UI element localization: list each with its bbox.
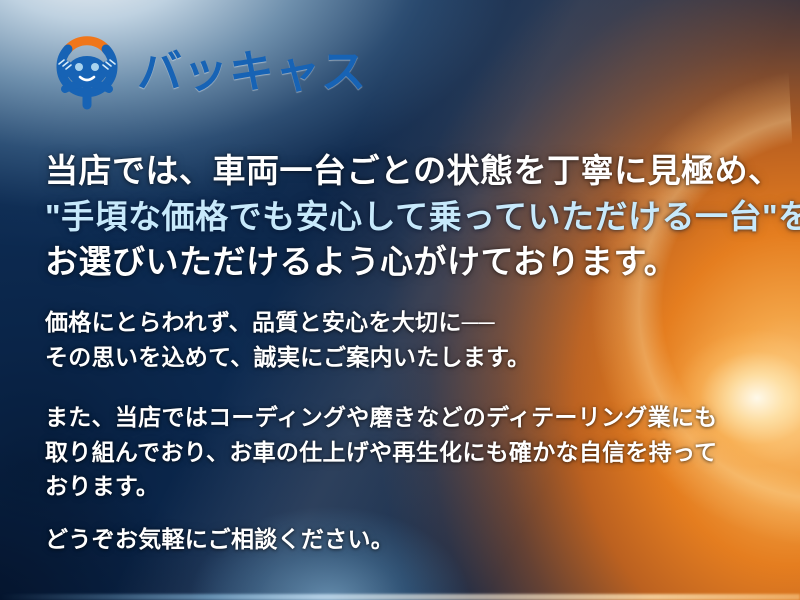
paragraph-detailing: また、当店ではコーディングや磨きなどのディテーリング業にも 取り組んでおり、お車…: [45, 400, 775, 504]
headline-line-2: "手頃な価格でも安心して乗っていただける一台"を: [45, 194, 775, 240]
headline-block: 当店では、車両一台ごとの状態を丁寧に見極め、 "手頃な価格でも安心して乗っていた…: [45, 148, 775, 285]
background-bottom-edge-line: [0, 594, 800, 600]
paragraph-closing-line-1: どうぞお気軽にご相談ください。: [45, 522, 775, 557]
paragraph-quality-line-1: 価格にとらわれず、品質と安心を大切に──: [45, 305, 775, 340]
paragraph-quality: 価格にとらわれず、品質と安心を大切に── その思いを込めて、誠実にご案内いたしま…: [45, 305, 775, 374]
paragraph-detailing-line-3: おります。: [45, 469, 775, 504]
headline-line-1: 当店では、車両一台ごとの状態を丁寧に見極め、: [45, 148, 775, 194]
paragraph-closing: どうぞお気軽にご相談ください。: [45, 522, 775, 557]
brand-logo: バッキャス: [45, 31, 367, 111]
promo-banner: バッキャス 当店では、車両一台ごとの状態を丁寧に見極め、 "手頃な価格でも安心し…: [0, 0, 800, 600]
brand-wordmark: バッキャス: [137, 49, 367, 94]
steering-wheel-mascot-icon: [45, 31, 129, 111]
paragraph-detailing-line-2: 取り組んでおり、お車の仕上げや再生化にも確かな自信を持って: [45, 435, 775, 470]
paragraph-detailing-line-1: また、当店ではコーディングや磨きなどのディテーリング業にも: [45, 400, 775, 435]
paragraph-quality-line-2: その思いを込めて、誠実にご案内いたします。: [45, 340, 775, 375]
headline-line-3: お選びいただけるよう心がけております。: [45, 239, 775, 285]
